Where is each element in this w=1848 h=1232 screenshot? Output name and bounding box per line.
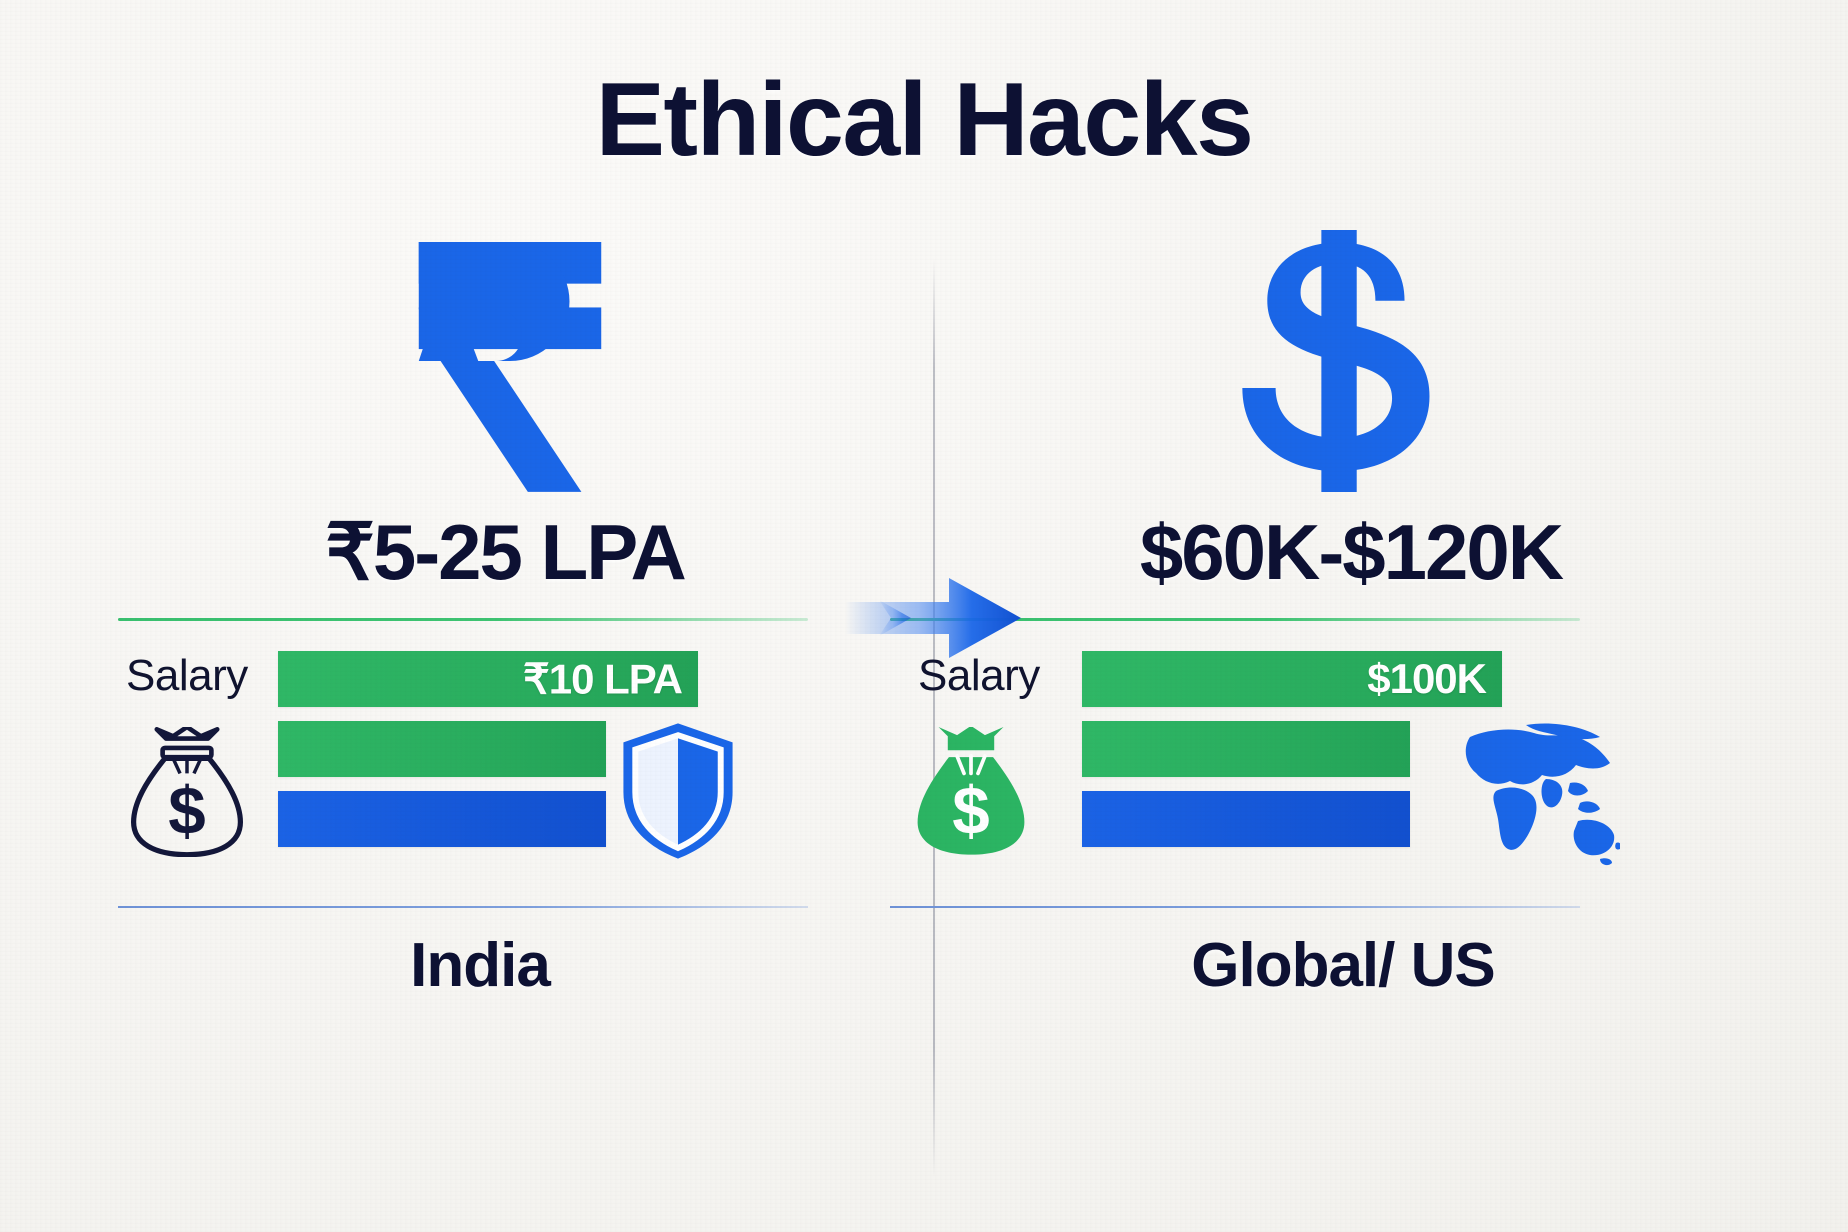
bar-salary-global: $100K: [1082, 651, 1502, 707]
dollar-sign-icon: [938, 230, 1738, 498]
bar-value-india: ₹10 LPA: [523, 655, 682, 704]
salary-range-global: $60K-$120K: [1114, 507, 1562, 598]
metric-label-india: Salary: [126, 651, 248, 701]
shield-icon: [618, 721, 738, 861]
page-title: Ethical Hacks: [0, 66, 1848, 175]
bar-salary-india: ₹10 LPA: [278, 651, 698, 707]
salary-range-row-india: ₹5-25 LPA: [110, 498, 910, 606]
card-bottom-rule: [118, 906, 808, 908]
column-global-us: $60K-$120K Salary $ $100K: [938, 230, 1738, 1190]
bar-value-global: $100K: [1367, 655, 1486, 703]
world-map-icon: [1430, 721, 1620, 871]
card-bottom-rule: [890, 906, 1580, 908]
salary-range-india: ₹5-25 LPA: [325, 507, 695, 598]
metric-card-india: Salary $ ₹10 LPA: [118, 618, 808, 908]
arrow-right-icon: [845, 570, 1025, 666]
rupee-sign-icon: [110, 230, 910, 498]
bar-tertiary-india: [278, 791, 606, 847]
svg-text:$: $: [168, 774, 205, 849]
bar-secondary-india: [278, 721, 606, 777]
infographic-canvas: Ethical Hacks ₹5-25 LPA Salary: [0, 0, 1848, 1232]
region-label-global: Global/ US: [938, 930, 1738, 1001]
money-bag-icon: $: [128, 727, 246, 857]
column-india: ₹5-25 LPA Salary $ ₹10 LPA: [110, 230, 910, 1190]
bar-tertiary-global: [1082, 791, 1410, 847]
salary-range-row-global: $60K-$120K: [938, 498, 1738, 606]
money-bag-icon: $: [912, 727, 1030, 857]
svg-text:$: $: [952, 774, 989, 849]
region-label-india: India: [110, 930, 910, 1001]
bar-secondary-global: [1082, 721, 1410, 777]
